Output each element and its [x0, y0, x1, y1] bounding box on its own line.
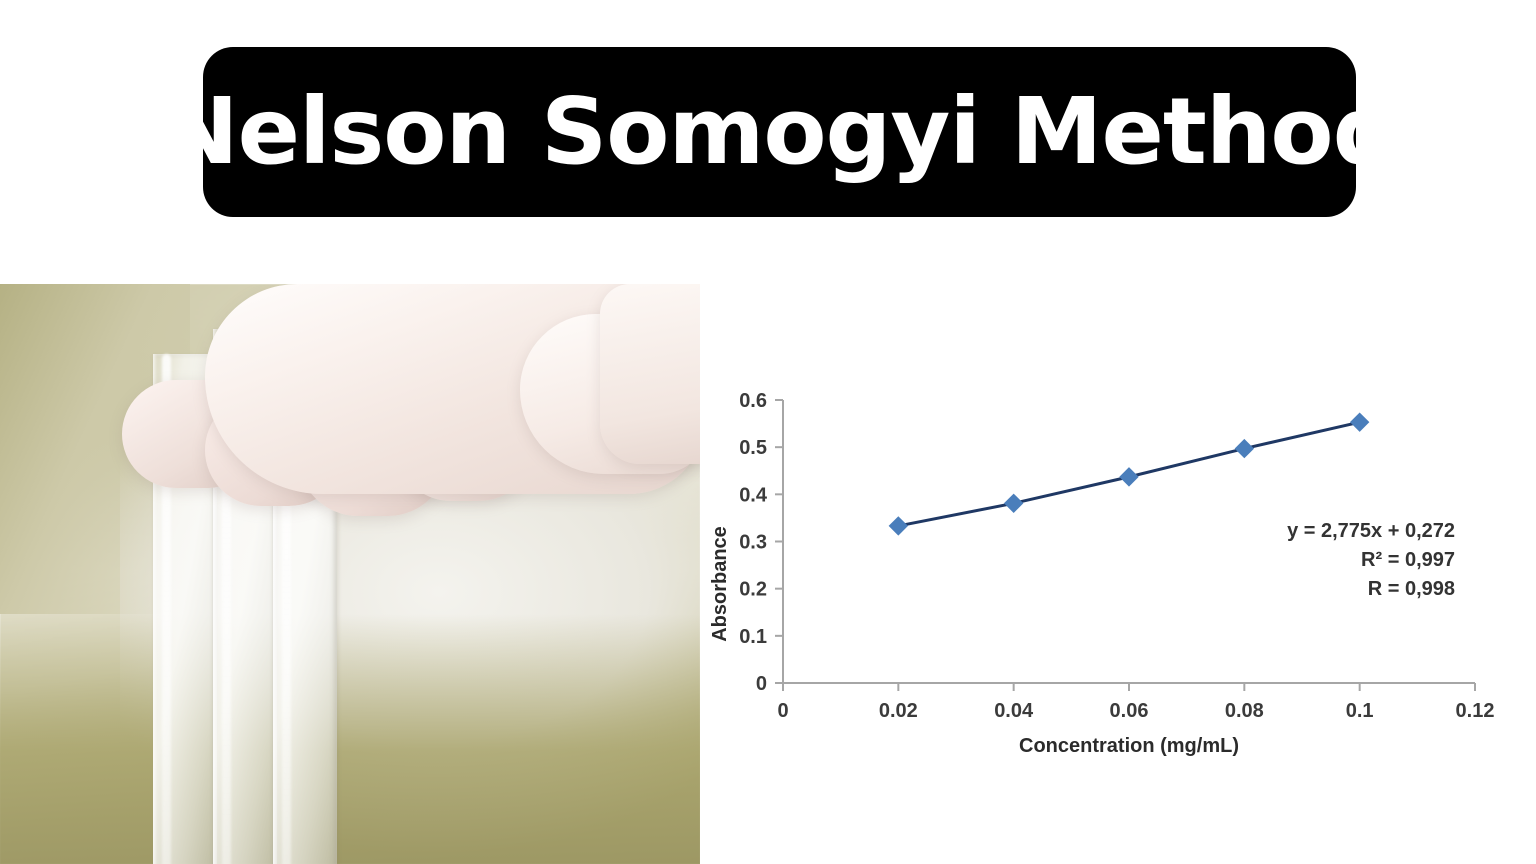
y-tick-label: 0.3 — [739, 532, 767, 554]
y-tick-label: 0.5 — [739, 437, 767, 459]
y-tick-label: 0.2 — [739, 579, 767, 601]
y-tick-label: 0.4 — [739, 484, 768, 506]
data-point-marker — [889, 517, 907, 535]
regression-annotation: y = 2,775x + 0,272 R² = 0,997 R = 0,998 — [1287, 520, 1455, 600]
data-point-marker — [1351, 413, 1369, 431]
x-axis-title: Concentration (mg/mL) — [1019, 735, 1239, 757]
x-tick-label: 0 — [777, 700, 788, 722]
lab-photo — [0, 284, 700, 864]
data-point-marker — [1005, 494, 1023, 512]
title-banner: Nelson Somogyi Method — [203, 47, 1356, 217]
regression-r-squared: R² = 0,997 — [1361, 549, 1455, 571]
y-tick-label: 0 — [756, 673, 767, 695]
x-tick-label: 0.08 — [1225, 700, 1264, 722]
y-axis-ticks: 00.10.20.30.40.50.6 — [739, 390, 783, 695]
y-tick-label: 0.1 — [739, 626, 767, 648]
x-tick-label: 0.04 — [994, 700, 1034, 722]
x-tick-label: 0.1 — [1346, 700, 1374, 722]
regression-r: R = 0,998 — [1368, 578, 1455, 600]
x-tick-label: 0.06 — [1110, 700, 1149, 722]
x-tick-label: 0.02 — [879, 700, 918, 722]
y-axis-title: Absorbance — [709, 526, 731, 642]
glove-cuff — [600, 284, 700, 464]
data-point-marker — [1235, 440, 1253, 458]
data-point-marker — [1120, 468, 1138, 486]
regression-equation: y = 2,775x + 0,272 — [1287, 520, 1455, 542]
calibration-curve-chart: 00.10.20.30.40.50.6 00.020.040.060.080.1… — [700, 284, 1536, 864]
page-title: Nelson Somogyi Method — [162, 86, 1398, 178]
series-markers — [889, 413, 1368, 535]
x-tick-label: 0.12 — [1456, 700, 1495, 722]
y-tick-label: 0.6 — [739, 390, 767, 412]
chart-svg: 00.10.20.30.40.50.6 00.020.040.060.080.1… — [700, 284, 1536, 864]
x-axis-ticks: 00.020.040.060.080.10.12 — [777, 683, 1494, 722]
photo-background-bench — [0, 614, 700, 864]
